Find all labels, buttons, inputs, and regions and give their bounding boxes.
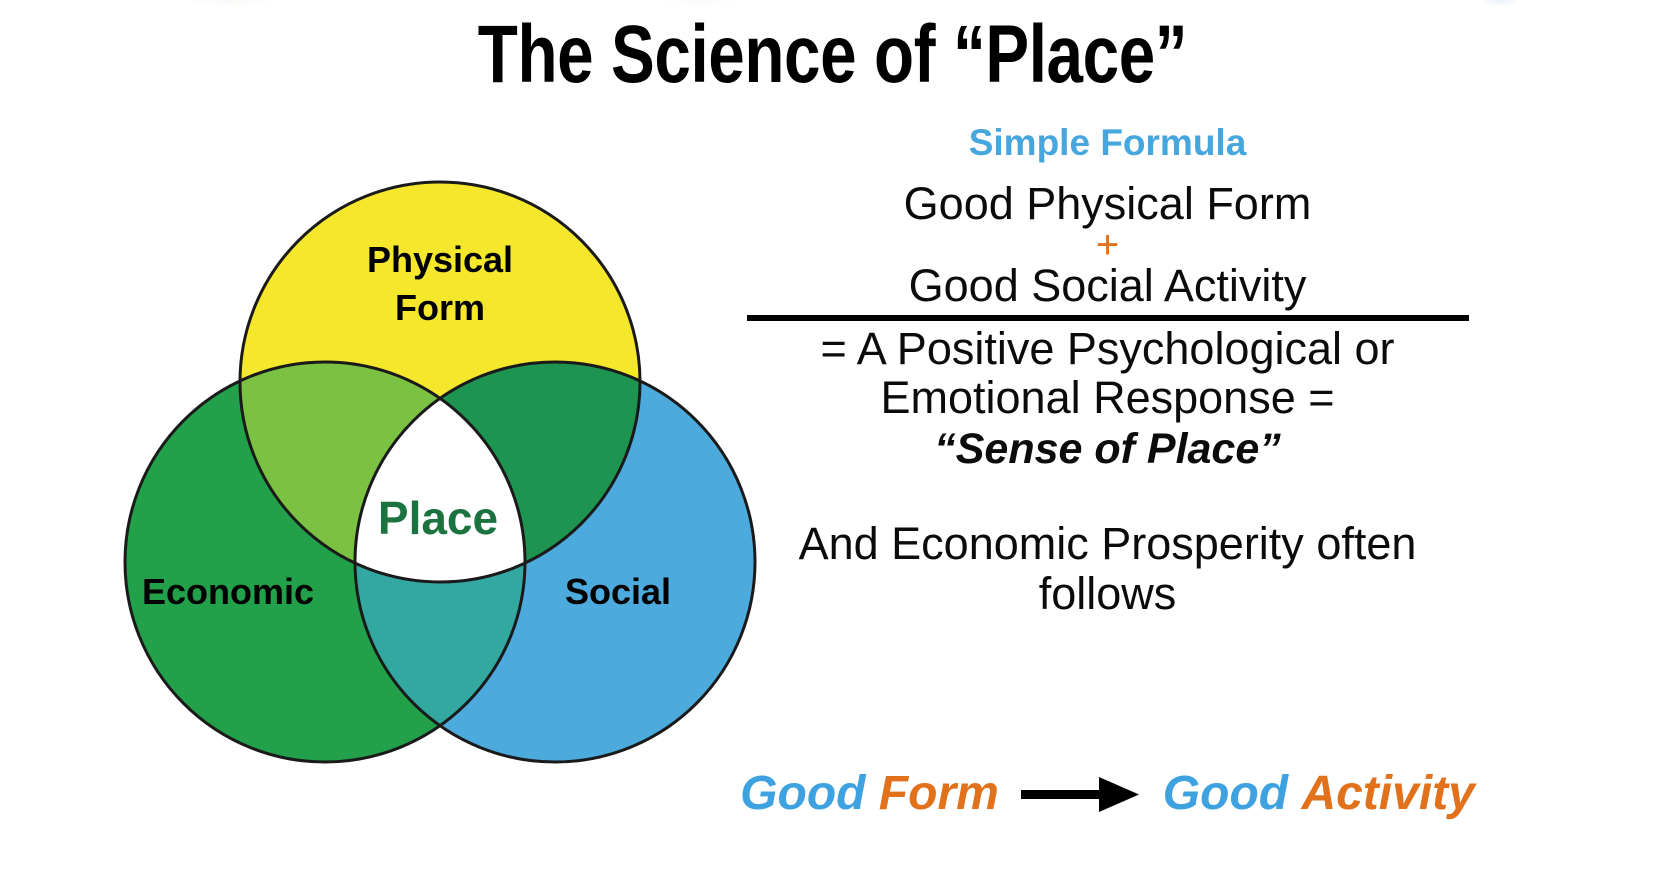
slide-canvas: The Science of “Place”: [0, 0, 1665, 886]
caption-left-good: Good: [740, 767, 865, 820]
caption-left-phrase: Good Form: [740, 770, 999, 818]
bottom-caption: Good Form Good Activity: [735, 770, 1480, 818]
formula-fraction-bar: [747, 315, 1469, 321]
caption-right-good: Good: [1163, 767, 1288, 820]
formula-denominator-line-2: Emotional Response =: [735, 374, 1480, 423]
venn-label-physical-form-line1: Physical: [367, 239, 513, 280]
caption-left-form: Form: [879, 767, 999, 820]
formula-denominator-line-1: = A Positive Psychological or: [735, 325, 1480, 374]
formula-closing-line-2: follows: [735, 569, 1480, 619]
venn-diagram: Physical Form Economic Social Place: [95, 172, 785, 772]
page-title: The Science of “Place”: [167, 14, 1499, 96]
formula-numerator-line-1: Good Physical Form: [735, 180, 1480, 228]
formula-heading: Simple Formula: [735, 122, 1480, 164]
venn-label-physical-form-line2: Form: [395, 287, 485, 328]
formula-numerator-line-2: Good Social Activity: [735, 262, 1480, 310]
formula-panel: Simple Formula Good Physical Form + Good…: [735, 122, 1480, 620]
formula-sense-of-place: “Sense of Place”: [735, 425, 1480, 473]
formula-closing-line-1: And Economic Prosperity often: [735, 519, 1480, 569]
caption-right-phrase: Good Activity: [1163, 770, 1475, 818]
caption-right-activity: Activity: [1301, 767, 1474, 820]
venn-label-place: Place: [378, 492, 498, 544]
venn-label-economic: Economic: [142, 571, 314, 612]
arrow-right-icon: [1021, 771, 1141, 817]
formula-plus-operator: +: [735, 228, 1480, 262]
venn-label-social: Social: [565, 571, 671, 612]
